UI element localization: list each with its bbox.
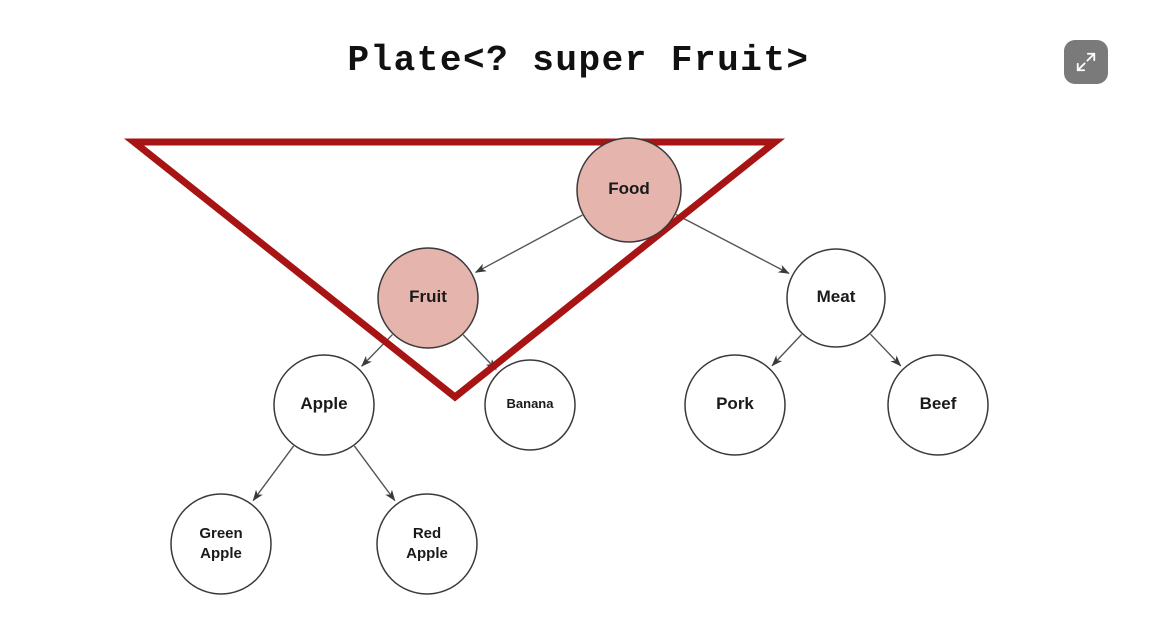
edge-meat-beef [870, 334, 900, 366]
node-fruit[interactable]: Fruit [378, 248, 478, 348]
diagram-canvas: Plate<? super Fruit> FoodFruitMeatAppleB… [0, 0, 1157, 639]
edges-layer [253, 215, 901, 501]
edge-food-meat [676, 215, 789, 274]
node-label-banana: Banana [507, 396, 555, 411]
nodes-layer: FoodFruitMeatAppleBananaPorkBeefGreenApp… [171, 138, 988, 594]
edge-meat-pork [772, 334, 802, 365]
node-label-meat: Meat [817, 287, 856, 306]
node-green-apple[interactable]: GreenApple [171, 494, 271, 594]
node-label-food: Food [608, 179, 650, 198]
node-beef[interactable]: Beef [888, 355, 988, 455]
node-red-apple[interactable]: RedApple [377, 494, 477, 594]
node-meat[interactable]: Meat [787, 249, 885, 347]
tree-graph: FoodFruitMeatAppleBananaPorkBeefGreenApp… [0, 0, 1157, 639]
node-label-fruit: Fruit [409, 287, 447, 306]
node-apple[interactable]: Apple [274, 355, 374, 455]
node-label-pork: Pork [716, 394, 754, 413]
edge-apple-red-apple [354, 446, 394, 501]
node-food[interactable]: Food [577, 138, 681, 242]
edge-apple-green-apple [253, 446, 293, 501]
node-label-apple: Apple [300, 394, 347, 413]
edge-food-fruit [476, 215, 583, 272]
node-label-beef: Beef [920, 394, 957, 413]
node-pork[interactable]: Pork [685, 355, 785, 455]
node-banana[interactable]: Banana [485, 360, 575, 450]
